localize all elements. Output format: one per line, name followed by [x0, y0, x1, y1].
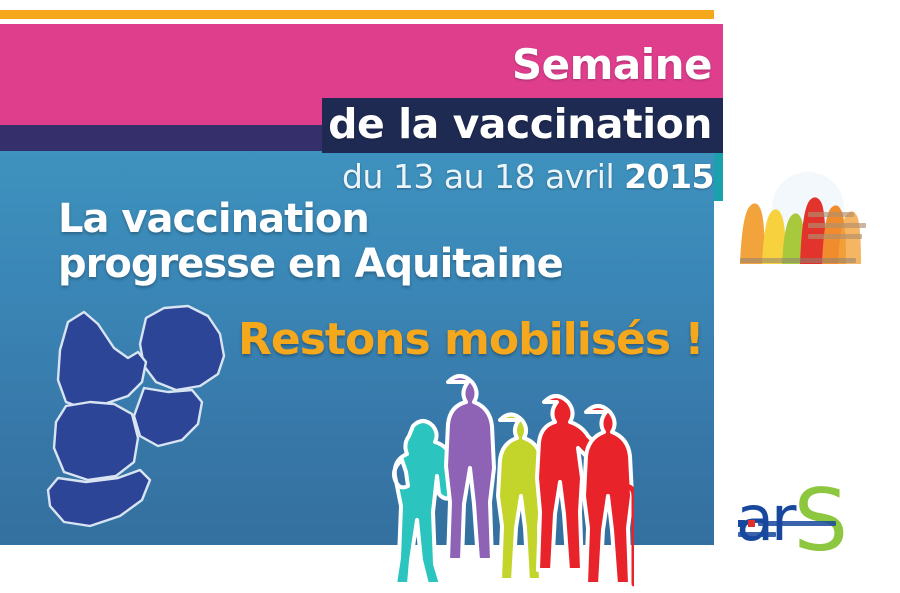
semaine-europeenne-de-la-vaccination-logo [730, 168, 890, 273]
vaccination-week-poster: Semaine de la vaccination du 13 au 18 av… [0, 0, 900, 591]
top-white-stripe [0, 0, 714, 10]
ars-square-blue-icon [738, 520, 745, 527]
top-orange-stripe [0, 10, 714, 19]
ars-tagline-line1 [738, 520, 836, 527]
call-to-action-tagline: Restons mobilisés ! [238, 314, 703, 365]
campaign-year: 2015 [624, 157, 714, 196]
headline-line1: La vaccination [58, 196, 369, 242]
ars-aquitaine-logo: arS [728, 468, 890, 564]
ars-wordmark: arS [736, 468, 844, 554]
ars-square-red-icon [748, 520, 755, 527]
campaign-title-line1: Semaine [512, 40, 712, 89]
figure-elder-red [584, 406, 632, 584]
campaign-dates: du 13 au 18 avril 2015 [342, 157, 714, 196]
ars-tagline-line2 [738, 532, 776, 537]
campaign-title-line2: de la vaccination [328, 100, 712, 148]
teal-band-overhang [714, 151, 723, 201]
figure-teen-green [498, 415, 543, 581]
ars-tagline-text [758, 521, 836, 526]
people-silhouettes-illustration [372, 368, 634, 588]
campaign-dates-range: du 13 au 18 avril [342, 157, 624, 196]
ars-wordmark-ar: ar [736, 482, 793, 555]
headline-line2: progresse en Aquitaine [58, 242, 563, 287]
aquitaine-map-icon [42, 300, 242, 548]
page-title: La vaccination progresse en Aquitaine [58, 197, 563, 287]
figure-woman-purple [446, 376, 494, 560]
